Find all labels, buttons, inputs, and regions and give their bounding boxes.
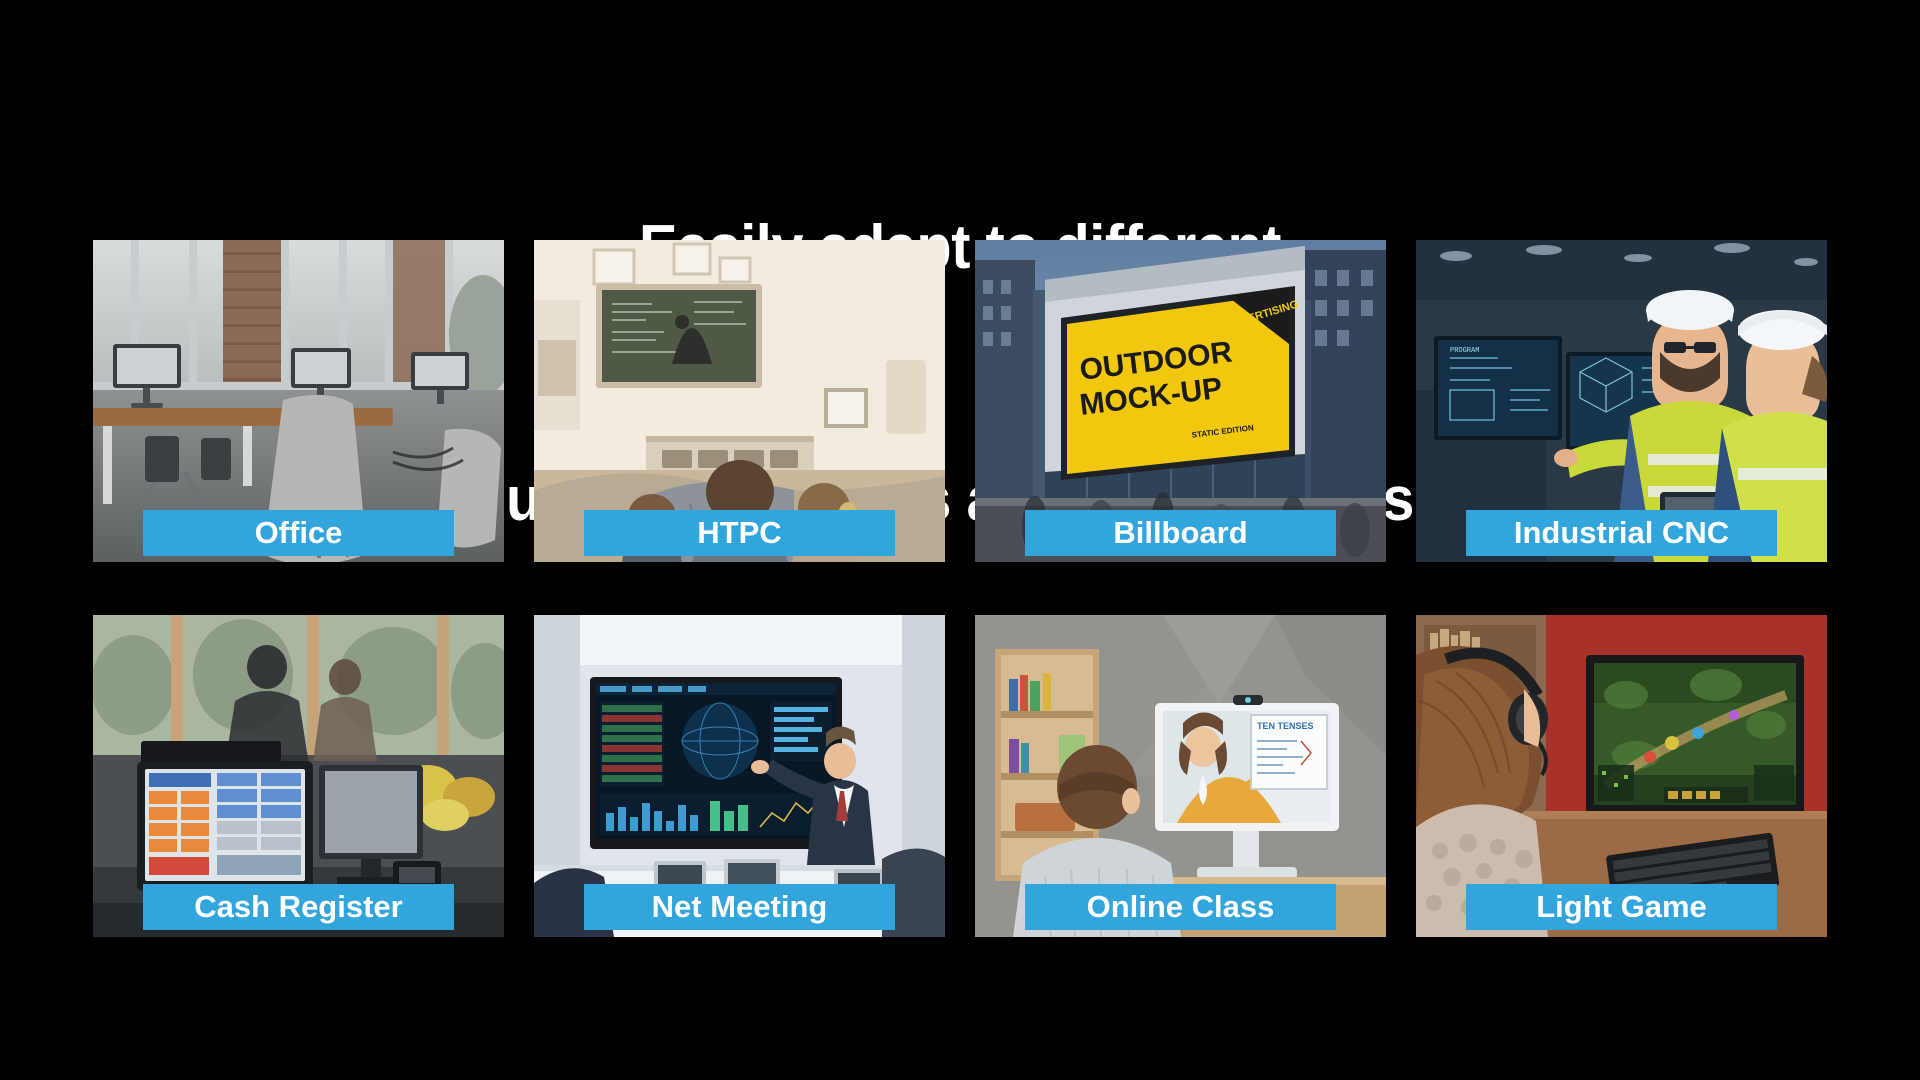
scenario-tile-office[interactable]: Office bbox=[93, 240, 504, 562]
scenario-label-htpc: HTPC bbox=[584, 510, 895, 556]
scenario-tile-light-game[interactable]: Light Game bbox=[1416, 615, 1827, 937]
scenario-tile-net-meeting[interactable]: Net Meeting bbox=[534, 615, 945, 937]
scenario-tile-billboard[interactable]: ADVERTISING OUTDOOR MOCK-UP STATIC EDITI… bbox=[975, 240, 1386, 562]
scenario-label-office: Office bbox=[143, 510, 454, 556]
scenario-label-billboard: Billboard bbox=[1025, 510, 1336, 556]
scenario-label-online-class: Online Class bbox=[1025, 884, 1336, 930]
scenario-tile-online-class[interactable]: TEN TENSES bbox=[975, 615, 1386, 937]
scenario-label-net-meeting: Net Meeting bbox=[584, 884, 895, 930]
slide-root: Easily adapt to different usage scenario… bbox=[0, 0, 1920, 1080]
svg-text:TEN TENSES: TEN TENSES bbox=[1257, 721, 1314, 731]
svg-text:PROGRAM: PROGRAM bbox=[1450, 347, 1479, 355]
scenario-tile-industrial-cnc[interactable]: PROGRAM bbox=[1416, 240, 1827, 562]
scenario-tile-htpc[interactable]: 家庭影院 HTPC bbox=[534, 240, 945, 562]
scenario-label-industrial-cnc: Industrial CNC bbox=[1466, 510, 1777, 556]
scenario-grid: Office bbox=[93, 240, 1827, 938]
scenario-tile-cash-register[interactable]: Cash Register bbox=[93, 615, 504, 937]
scenario-label-cash-register: Cash Register bbox=[143, 884, 454, 930]
scenario-label-light-game: Light Game bbox=[1466, 884, 1777, 930]
